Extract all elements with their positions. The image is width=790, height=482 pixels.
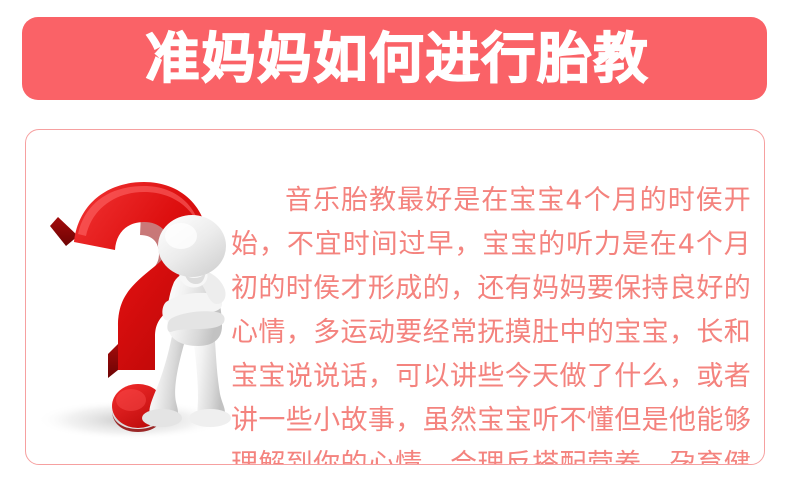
illustration-container — [26, 130, 241, 465]
page-title: 准妈妈如何进行胎教 — [140, 32, 650, 86]
content-card: 音乐胎教最好是在宝宝4个月的时侯开始，不宜时间过早，宝宝的听力是在4个月初的时侯… — [25, 129, 765, 465]
figure-head — [158, 215, 226, 277]
page-header-banner: 准妈妈如何进行胎教 — [22, 17, 767, 100]
thinking-person-with-question-mark-icon — [26, 130, 241, 465]
article-paragraph: 音乐胎教最好是在宝宝4个月的时侯开始，不宜时间过早，宝宝的听力是在4个月初的时侯… — [231, 179, 751, 465]
